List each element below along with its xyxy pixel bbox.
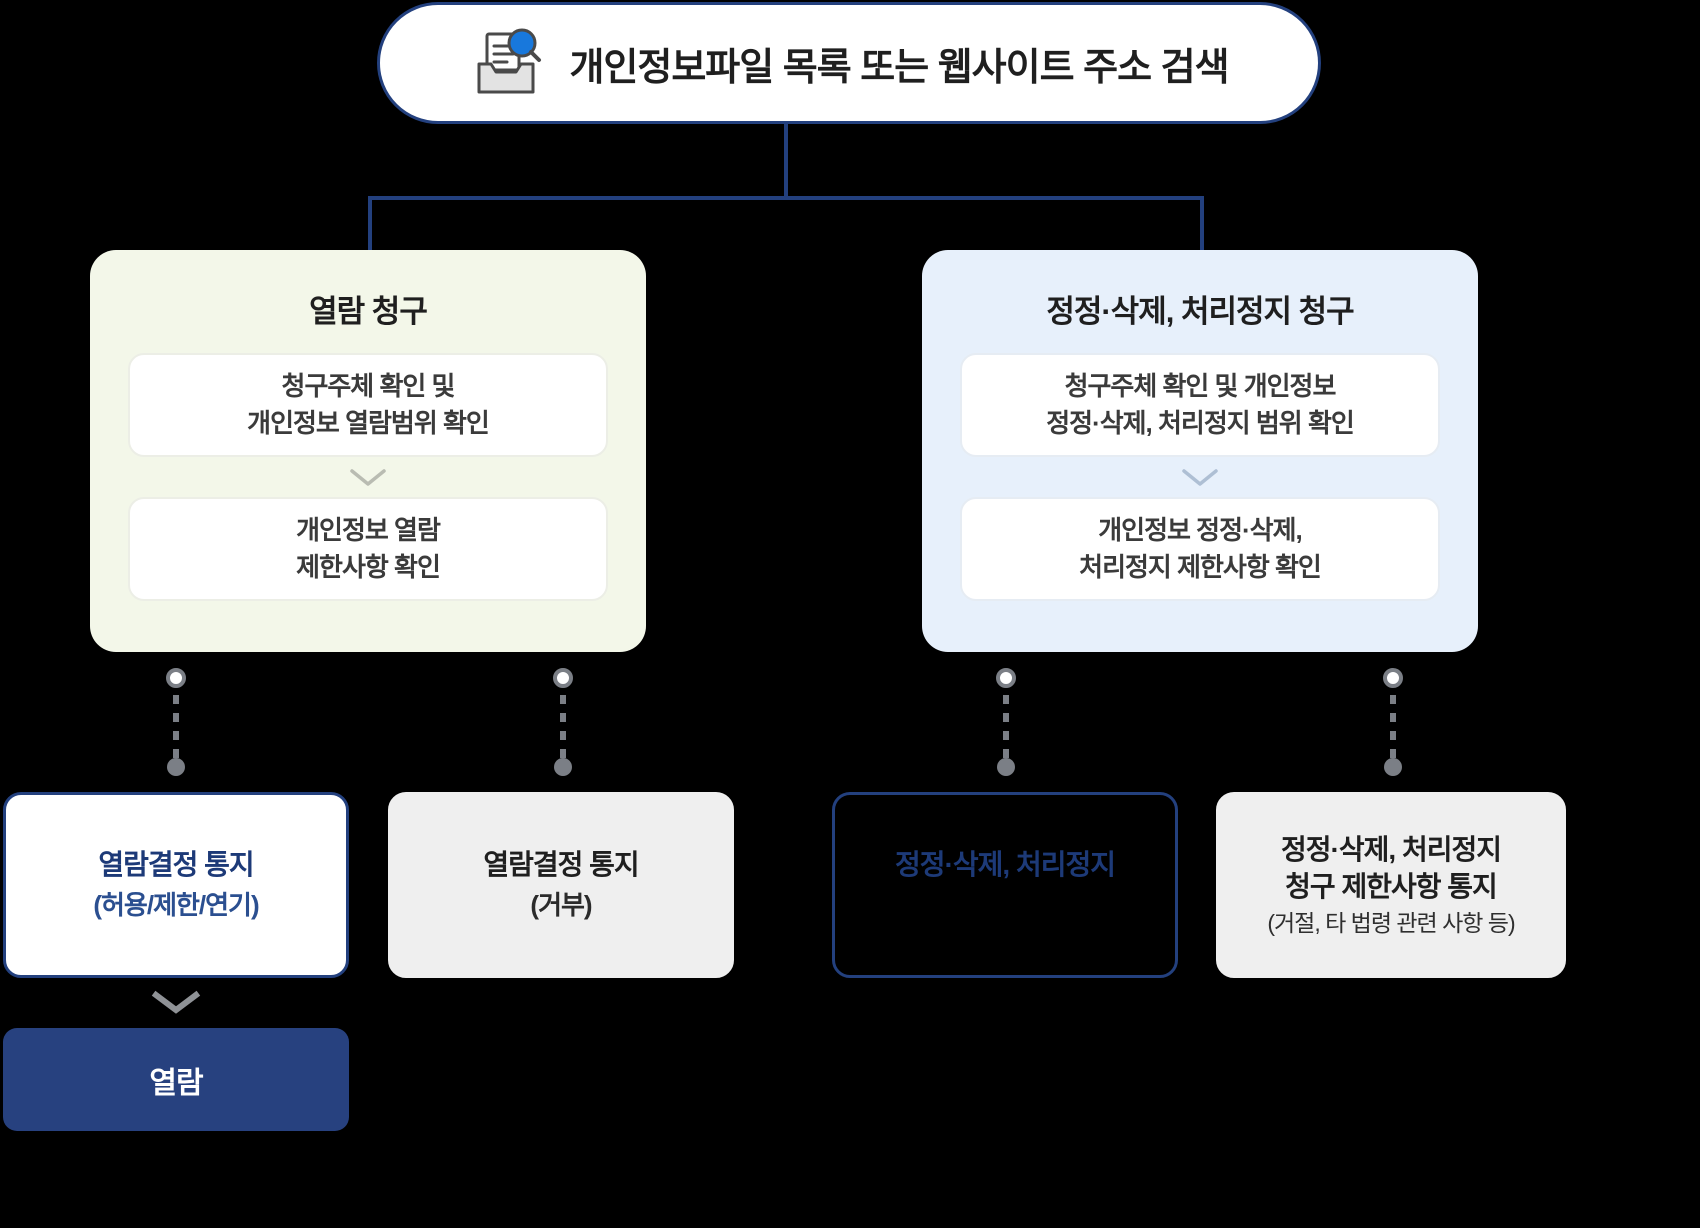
final-outcome-label: 열람 [149, 1058, 202, 1102]
result-title: 열람결정 통지 [483, 847, 638, 884]
chevron-down-icon [346, 466, 390, 488]
step-card-correction-scope: 청구주체 확인 및 개인정보 정정·삭제, 처리정지 범위 확인 [960, 353, 1440, 457]
result-box-view-decision-allow: 열람결정 통지 (허용/제한/연기) [3, 792, 349, 978]
result-title: 열람결정 통지 [98, 847, 253, 884]
step-card-correction-restrictions: 개인정보 정정·삭제, 처리정지 제한사항 확인 [960, 497, 1440, 601]
step-line: 청구주체 확인 및 [282, 368, 455, 405]
privacy-request-flow-diagram: 개인정보파일 목록 또는 웹사이트 주소 검색 열람 청구 청구주체 확인 및 … [0, 0, 1700, 1228]
connector-dot-top [553, 668, 573, 688]
step-line: 개인정보 정정·삭제, [1098, 512, 1301, 549]
connector-left-drop [368, 196, 372, 252]
result-note: (거절, 타 법령 관련 사항 등) [1267, 909, 1514, 939]
connector-branch-horizontal [368, 196, 1204, 200]
dashed-connector-3 [996, 668, 1016, 776]
dashed-line [560, 677, 566, 767]
connector-dot-top [166, 668, 186, 688]
connector-dot-bottom [167, 758, 185, 776]
result-box-correction-restriction-notice: 정정·삭제, 처리정지 청구 제한사항 통지 (거절, 타 법령 관련 사항 등… [1216, 792, 1566, 978]
branch-title-correction-request: 정정·삭제, 처리정지 청구 [960, 286, 1440, 331]
dashed-line [173, 677, 179, 767]
dashed-connector-2 [553, 668, 573, 776]
step-card-view-restrictions: 개인정보 열람 제한사항 확인 [128, 497, 608, 601]
connector-dot-bottom [554, 758, 572, 776]
connector-dot-bottom [1384, 758, 1402, 776]
connector-dot-bottom [997, 758, 1015, 776]
result-subtitle: 결과 통지 [956, 888, 1054, 923]
result-box-correction-result-notice: 정정·삭제, 처리정지 결과 통지 [832, 792, 1178, 978]
step-line: 정정·삭제, 처리정지 범위 확인 [1046, 405, 1354, 442]
branch-title-view-request: 열람 청구 [128, 286, 608, 331]
dashed-line [1003, 677, 1009, 767]
search-entry-pill[interactable]: 개인정보파일 목록 또는 웹사이트 주소 검색 [377, 2, 1321, 124]
result-title: 정정·삭제, 처리정지 [895, 847, 1115, 884]
dashed-connector-1 [166, 668, 186, 776]
chevron-down-icon [1178, 466, 1222, 488]
dashed-connector-4 [1383, 668, 1403, 776]
search-entry-label: 개인정보파일 목록 또는 웹사이트 주소 검색 [569, 36, 1228, 91]
connector-trunk-vertical [784, 124, 788, 200]
result-box-view-decision-reject: 열람결정 통지 (거부) [388, 792, 734, 978]
connector-dot-top [996, 668, 1016, 688]
step-line: 제한사항 확인 [296, 549, 440, 586]
step-line: 처리정지 제한사항 확인 [1079, 549, 1321, 586]
result-subtitle: (거부) [530, 888, 591, 923]
connector-dot-top [1383, 668, 1403, 688]
connector-right-drop [1200, 196, 1204, 252]
result-subtitle: 청구 제한사항 통지 [1285, 869, 1497, 906]
result-subtitle: (허용/제한/연기) [93, 888, 258, 923]
step-line: 청구주체 확인 및 개인정보 [1065, 368, 1336, 405]
step-card-view-scope: 청구주체 확인 및 개인정보 열람범위 확인 [128, 353, 608, 457]
document-search-icon [469, 26, 543, 100]
branch-panel-view-request: 열람 청구 청구주체 확인 및 개인정보 열람범위 확인 개인정보 열람 제한사… [90, 250, 646, 652]
final-outcome-box-view: 열람 [3, 1028, 349, 1131]
dashed-line [1390, 677, 1396, 767]
result-title: 정정·삭제, 처리정지 [1281, 832, 1501, 869]
step-line: 개인정보 열람 [296, 512, 440, 549]
branch-panel-correction-request: 정정·삭제, 처리정지 청구 청구주체 확인 및 개인정보 정정·삭제, 처리정… [922, 250, 1478, 652]
step-line: 개인정보 열람범위 확인 [247, 405, 489, 442]
chevron-down-icon [150, 988, 202, 1016]
